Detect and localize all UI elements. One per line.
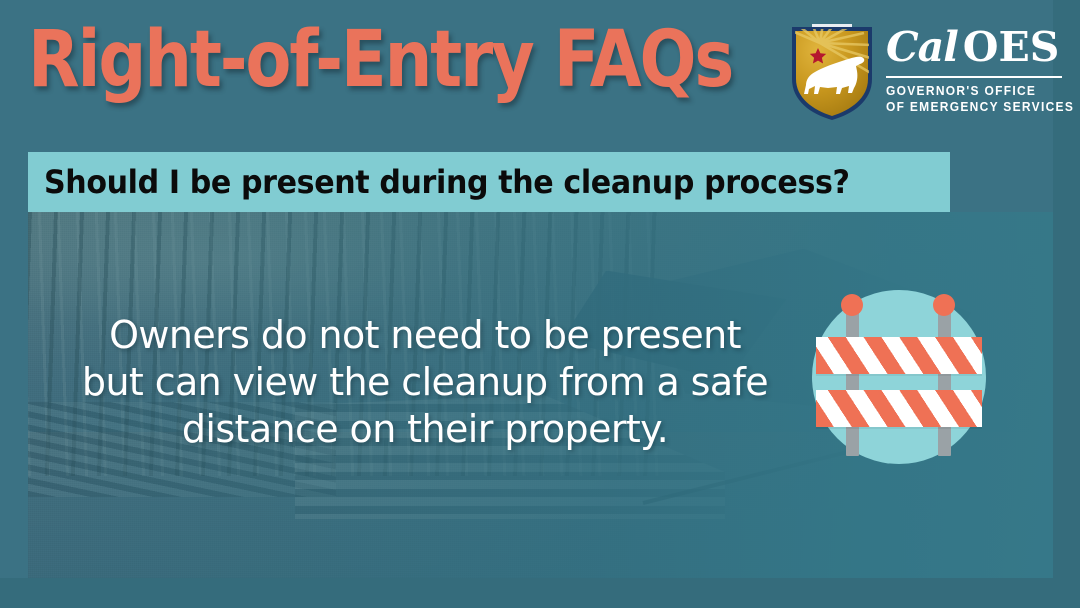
barricade-cap-left [841,294,863,316]
question-text: Should I be present during the cleanup p… [44,161,850,203]
answer-line-1: Owners do not need to be present [60,312,790,359]
barricade-board-bottom [816,390,982,427]
wordmark-cal: Cal [886,23,958,71]
page-title: Right-of-Entry FAQs [28,12,732,108]
answer-text: Owners do not need to be present but can… [60,312,790,453]
logo-divider [886,76,1062,78]
question-banner: Should I be present during the cleanup p… [28,152,950,212]
icon-circle-background [812,290,986,464]
answer-line-3: distance on their property. [60,406,790,453]
cal-oes-wordmark: CalOES GOVERNOR'S OFFICE OF EMERGENCY SE… [886,27,1064,115]
barricade-board-top [816,337,982,374]
barricade-post-right [938,306,951,456]
faq-slide: Right-of-Entry FAQs [0,0,1080,608]
barricade-cap-right [933,294,955,316]
logo-tagline-line1: GOVERNOR'S OFFICE [886,84,1057,99]
slide-header: Right-of-Entry FAQs [0,0,1080,140]
road-barricade-icon [812,290,986,464]
barricade-post-left [846,306,859,456]
cal-oes-logo: CalOES GOVERNOR'S OFFICE OF EMERGENCY SE… [790,23,1065,123]
california-bear-shield-icon [790,23,874,120]
answer-line-2: but can view the cleanup from a safe [60,359,790,406]
logo-tagline-line2: OF EMERGENCY SERVICES [886,100,1057,115]
wordmark-oes: OES [963,23,1060,71]
wordmark-line: CalOES [886,27,1064,73]
